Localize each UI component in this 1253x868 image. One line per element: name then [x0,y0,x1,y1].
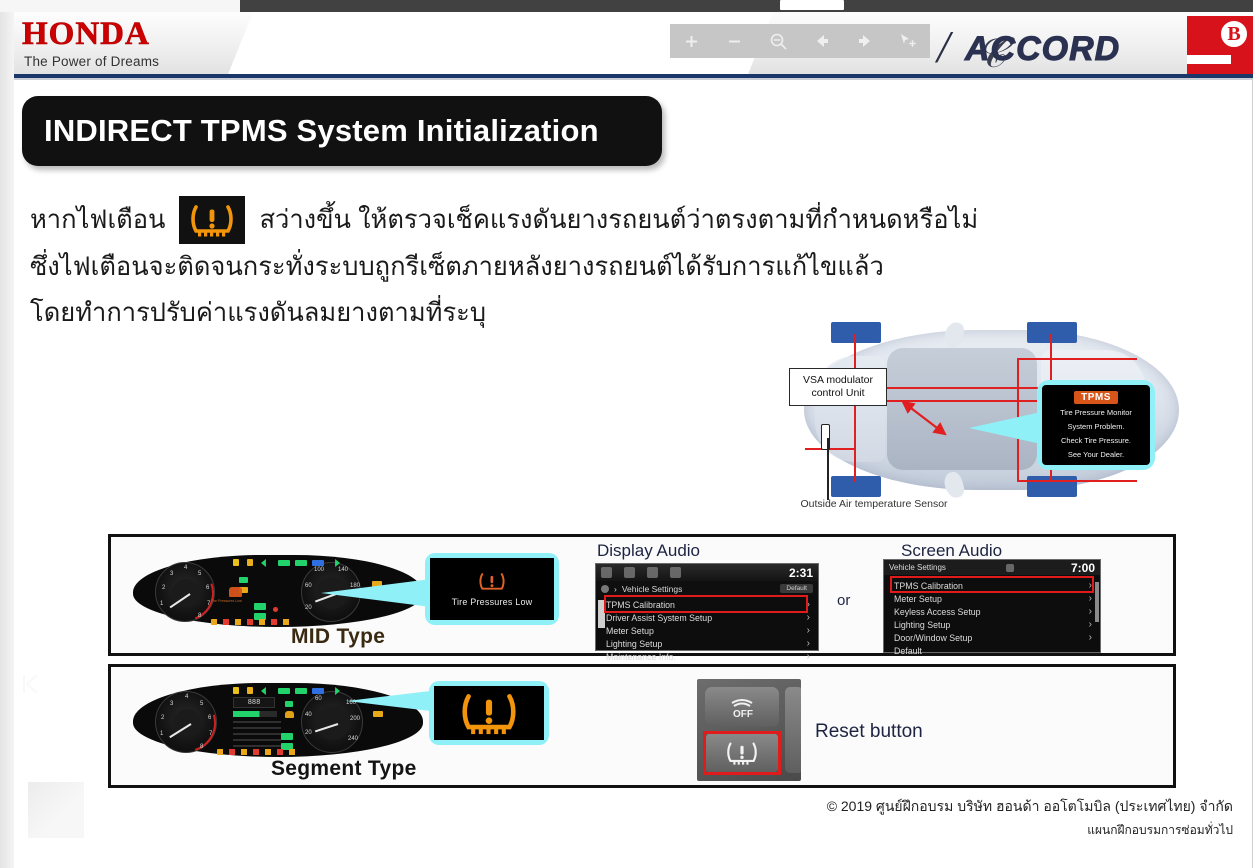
row-label: Door/Window Setup [894,633,972,643]
display-audio-breadcrumb-text: Vehicle Settings [622,584,682,594]
segment-type-panel: 4 3 2 1 5 6 7 8 60 160 40 200 20 [108,664,1176,788]
mid-indicator-green-4 [254,603,266,610]
mid-tachometer: 4 3 2 1 5 6 7 8 [155,562,215,622]
page-title-text: INDIRECT TPMS System Initialization [22,113,599,149]
mid-indicator-green-3 [239,577,248,583]
display-audio-tpms-highlight [604,595,808,613]
accord-notch [1187,55,1231,64]
phone-icon [601,567,612,578]
row-label: Lighting Setup [606,639,662,649]
body-text-block: หากไฟเตือน [30,196,1100,336]
reset-button-highlight [703,731,781,775]
segment-odometer-display: 888 [233,697,275,708]
segment-fuel-bar [233,711,277,717]
tpms-warning-icon [179,196,245,244]
tpms-callout-tail [969,412,1041,444]
outside-air-temp-leader-line [827,438,829,500]
arrow-left-icon[interactable] [807,28,837,54]
tpms-warning-glyph [179,196,245,244]
body-line-2: ซึ่งไฟเตือนจะติดจนกระทั่งระบบถูกรีเซ็ตภา… [30,244,1100,290]
mid-indicator-green-2 [295,560,307,566]
screen-audio-clock: 7:00 [1071,561,1095,575]
segment-info-lines [233,721,281,747]
tpms-screen-callout: TPMS Tire Pressure Monitor System Proble… [1037,380,1155,470]
mid-tpms-warning-small [229,587,242,597]
mid-type-panel: 4 3 2 1 5 6 7 8 100 140 60 180 20 [108,534,1176,656]
vsa-red-arrow [899,398,953,440]
mid-tire-pressure-callout: Tire Pressures Low [425,553,559,625]
row-label: Default [894,646,922,656]
tpms-message-line-2: System Problem. [1067,422,1124,432]
row-label: Maintenance Info. [606,652,676,662]
mid-callout-text: Tire Pressures Low [452,597,533,607]
callout-tpms-icon [478,571,506,593]
reset-button-label: Reset button [815,721,923,743]
accord-wordmark: ACCORD [965,30,1120,69]
vsa-off-button[interactable]: OFF [705,687,779,727]
page-corner-fold [28,782,84,838]
first-page-button[interactable] [20,673,40,695]
segment-indicator-turn-left [261,687,272,695]
row-label: Meter Setup [894,594,942,604]
tpms-badge: TPMS [1074,391,1118,404]
body-line-1-before: หากไฟเตือน [30,197,165,243]
screen-audio-title: Screen Audio [901,541,1002,561]
display-audio-row-maintenance-info[interactable]: Maintenance Info.› [606,650,814,663]
row-label: Meter Setup [606,626,654,636]
honda-logo: HONDA [22,18,150,51]
mid-bottom-icons [211,619,291,625]
settings-gear-icon [601,585,609,593]
segment-indicator-green-2 [295,688,307,694]
fm-radio-icon [624,567,635,578]
chevron-right-icon: › [807,612,814,623]
display-audio-row-meter-setup[interactable]: Meter Setup› [606,624,814,637]
mid-indicator-green-1 [278,560,290,566]
topbar-chip [780,0,844,10]
slide-footer: © 2019 ศูนย์ฝึกอบรม บริษัท ฮอนด้า ออโตโม… [827,796,1233,840]
header-rule-secondary [14,78,1253,80]
row-label: Keyless Access Setup [894,607,981,617]
bluetooth-icon [647,567,658,578]
segment-callout-screen [434,686,544,740]
viewer-toolbar[interactable] [670,24,930,58]
chevron-right-icon: › [807,638,814,649]
segment-indicator-green-4 [281,733,293,740]
chevron-right-icon: › [1089,632,1096,643]
screen-audio-row-keyless-access[interactable]: Keyless Access Setup› [894,605,1096,618]
breadcrumb-chevron-icon: › [614,584,617,594]
adjacent-switch[interactable] [785,687,801,773]
mid-tire-pressure-low-text: Tire Pressures Low [211,599,242,603]
footer-copyright-line-2: แผนกฝึกอบรมการซ่อมทั่วไป [827,821,1233,840]
display-audio-title: Display Audio [597,541,700,561]
mid-indicator-blue [312,560,324,566]
wheel-rear-left [1027,322,1077,343]
screen-audio-breadcrumb-text: Vehicle Settings [889,563,946,572]
display-audio-breadcrumb: › Vehicle Settings Default [596,581,818,596]
mid-indicator-amber-2 [247,559,253,566]
arrow-right-icon[interactable] [850,28,880,54]
callout-tpms-icon-large [458,690,520,736]
segment-indicator-green-3 [285,701,293,707]
screen-audio-scrollbar[interactable] [1095,582,1099,622]
segment-indicator-green-1 [278,688,290,694]
segment-indicator-amber-2 [247,687,253,694]
topbar-left-pad [0,0,240,12]
segment-indicator-blue [312,688,324,694]
screen-audio-row-door-window-setup[interactable]: Door/Window Setup› [894,631,1096,644]
wheel-front-left [831,322,881,343]
row-label: Lighting Setup [894,620,950,630]
screen-audio-status-icon [1006,564,1014,572]
segment-tpms-warning-small [285,711,294,718]
zoom-out-icon[interactable] [720,28,750,54]
segment-indicator-amber-1 [233,687,239,694]
window-topbar [0,0,1253,12]
magnifier-icon[interactable] [763,28,793,54]
tpms-message-line-3: Check Tire Pressure. [1061,436,1131,446]
body-line-1: หากไฟเตือน [30,196,1100,244]
mid-indicator-turn-left [261,559,272,567]
vsa-off-icon: OFF [729,695,755,719]
or-separator-label: or [837,592,850,609]
mid-callout-screen: Tire Pressures Low [430,558,554,620]
vsa-label-line-1: VSA modulator [803,374,873,387]
screen-audio-row-lighting-setup[interactable]: Lighting Setup› [894,618,1096,631]
tpms-message-line-4: See Your Dealer. [1068,450,1124,460]
chevron-right-icon: › [807,625,814,636]
zoom-in-icon[interactable] [677,28,707,54]
accord-logo: / 𝒞 ACCORD B [937,16,1253,74]
display-audio-row-lighting-setup[interactable]: Lighting Setup› [606,637,814,650]
slide-viewer: HONDA The Power of Dreams / 𝒞 ACCORD B [0,0,1253,868]
chevron-right-icon: › [807,651,814,662]
display-audio-screen[interactable]: 2:31 › Vehicle Settings Default TPMS Cal… [595,563,819,651]
outside-air-temp-label: Outside Air temperature Sensor [759,498,989,510]
vsa-label-line-2: control Unit [811,387,864,400]
screen-audio-screen[interactable]: Vehicle Settings 7:00 TPMS Calibration› … [883,559,1101,653]
outside-air-temp-sensor [821,424,830,450]
previous-page-button[interactable] [10,412,44,464]
honda-tagline: The Power of Dreams [24,54,159,69]
tpms-screen-inner: TPMS Tire Pressure Monitor System Proble… [1042,385,1150,465]
tpms-message-line-1: Tire Pressure Monitor [1060,408,1132,418]
slide-header: HONDA The Power of Dreams / 𝒞 ACCORD B [14,12,1253,74]
mid-type-label: MID Type [291,625,385,649]
wire-6 [1017,358,1137,360]
mid-callout-tail [321,579,431,607]
screen-audio-row-meter-setup[interactable]: Meter Setup› [894,592,1096,605]
device-icon [670,567,681,578]
wire-1 [854,334,856,482]
vsa-modulator-label: VSA modulator control Unit [789,368,887,406]
mid-indicator-amber-1 [233,559,239,566]
wire-8 [805,448,855,450]
display-audio-clock: 2:31 [789,566,813,580]
segment-type-label: Segment Type [271,757,417,781]
accord-b-badge: B [1219,19,1249,49]
segment-tpms-callout [429,681,549,745]
switch-panel-photo: OFF [697,679,801,781]
footer-copyright-line-1: © 2019 ศูนย์ฝึกอบรม บริษัท ฮอนด้า ออโตโม… [827,796,1233,818]
page-title: INDIRECT TPMS System Initialization [22,96,662,166]
segment-tachometer: 4 3 2 1 5 6 7 8 [155,691,217,753]
row-label: Driver Assist System Setup [606,613,712,623]
display-audio-status-bar: 2:31 [596,564,818,581]
wire-7 [1017,480,1137,482]
screen-audio-tpms-highlight [890,576,1094,593]
slide-page: HONDA The Power of Dreams / 𝒞 ACCORD B [14,12,1253,868]
svg-text:OFF: OFF [733,709,753,719]
car-top-view-diagram: VSA modulator control Unit TPMS Tire Pre… [759,320,1219,525]
pointer-move-icon[interactable] [893,28,923,54]
wheel-front-right [831,476,881,497]
body-line-1-after: สว่างขึ้น ให้ตรวจเช็คแรงดันยางรถยนต์ว่าต… [259,197,978,243]
screen-audio-row-default[interactable]: Default [894,644,1096,657]
mid-indicator-red-dot [273,607,278,612]
display-audio-default-button[interactable]: Default [780,584,813,593]
screen-audio-status-bar: Vehicle Settings 7:00 [884,560,1100,575]
segment-bottom-icons [217,749,301,755]
